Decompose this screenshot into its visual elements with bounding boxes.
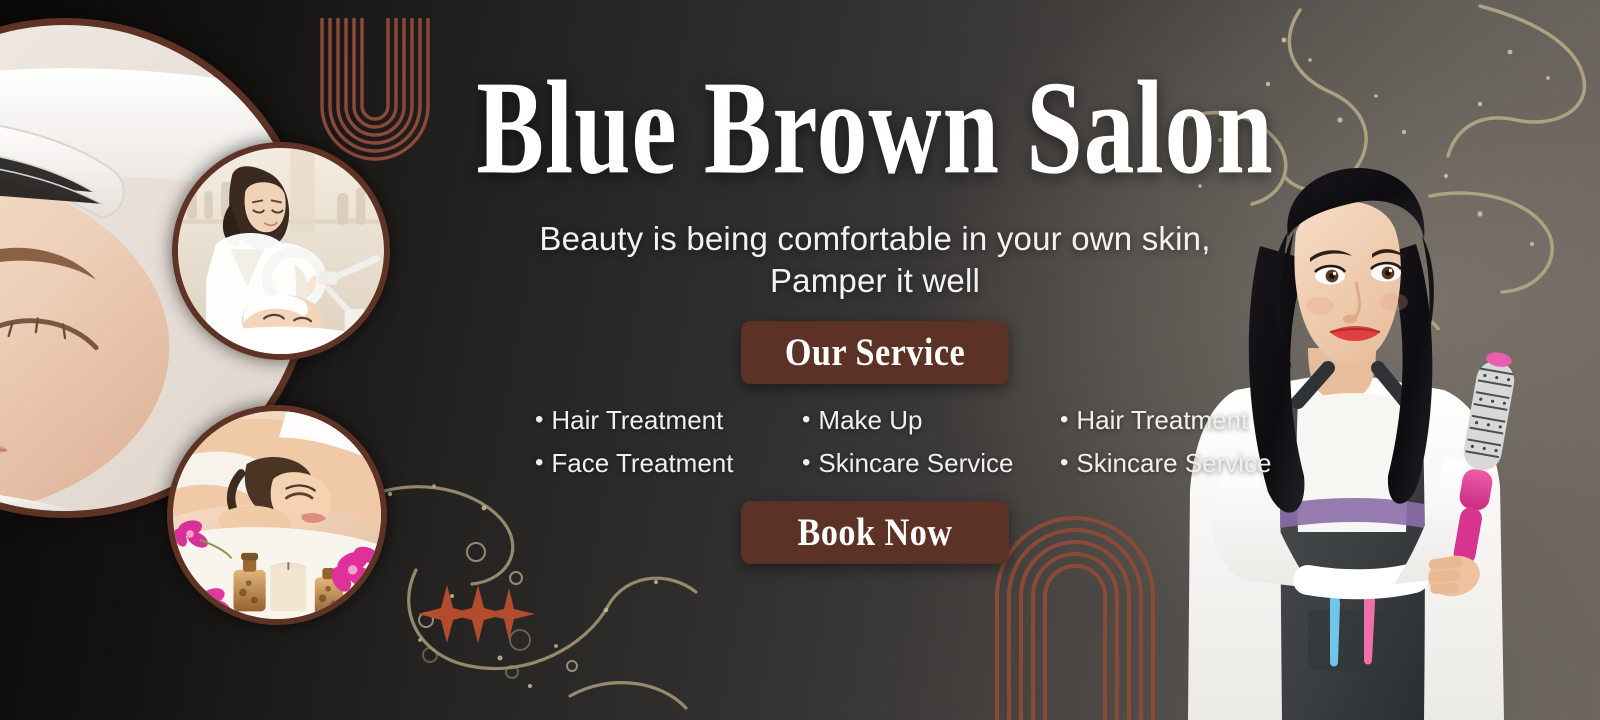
photo-facial-treatment bbox=[172, 142, 390, 360]
list-item[interactable]: •Make Up bbox=[802, 399, 1000, 441]
list-item-label: Hair Treatment bbox=[1076, 405, 1248, 435]
bullet-icon: • bbox=[1060, 401, 1068, 440]
tagline: Beauty is being comfortable in your own … bbox=[395, 218, 1355, 302]
services-column-2: •Make Up •Skincare Service bbox=[750, 399, 1000, 483]
bullet-icon: • bbox=[1060, 444, 1068, 483]
list-item-label: Skincare Service bbox=[1076, 448, 1271, 478]
list-item-label: Face Treatment bbox=[551, 448, 733, 478]
list-item[interactable]: •Skincare Service bbox=[802, 442, 1000, 484]
bullet-icon: • bbox=[535, 401, 543, 440]
list-item[interactable]: •Hair Treatment bbox=[535, 399, 750, 441]
banner-content: Blue Brown Salon Beauty is being comfort… bbox=[395, 0, 1355, 720]
salon-promo-banner: Blue Brown Salon Beauty is being comfort… bbox=[0, 0, 1600, 720]
book-now-button[interactable]: Book Now bbox=[741, 501, 1009, 564]
services-list: •Hair Treatment •Face Treatment •Make Up… bbox=[395, 399, 1355, 483]
tagline-line-2: Pamper it well bbox=[395, 260, 1355, 302]
list-item[interactable]: •Hair Treatment bbox=[1060, 399, 1250, 441]
list-item[interactable]: •Skincare Service bbox=[1060, 442, 1250, 484]
page-title: Blue Brown Salon bbox=[424, 62, 1326, 196]
list-item[interactable]: •Face Treatment bbox=[535, 442, 750, 484]
photo-spa-massage bbox=[167, 405, 387, 625]
services-column-3: •Hair Treatment •Skincare Service bbox=[1000, 399, 1250, 483]
esthetician-treatment-illustration bbox=[178, 148, 384, 354]
list-item-label: Hair Treatment bbox=[551, 405, 723, 435]
bullet-icon: • bbox=[535, 444, 543, 483]
bullet-icon: • bbox=[802, 444, 810, 483]
spa-massage-illustration bbox=[173, 411, 381, 619]
tagline-line-1: Beauty is being comfortable in your own … bbox=[395, 218, 1355, 260]
list-item-label: Make Up bbox=[818, 405, 922, 435]
bullet-icon: • bbox=[802, 401, 810, 440]
services-column-1: •Hair Treatment •Face Treatment bbox=[500, 399, 750, 483]
our-service-button[interactable]: Our Service bbox=[741, 322, 1009, 385]
list-item-label: Skincare Service bbox=[818, 448, 1013, 478]
